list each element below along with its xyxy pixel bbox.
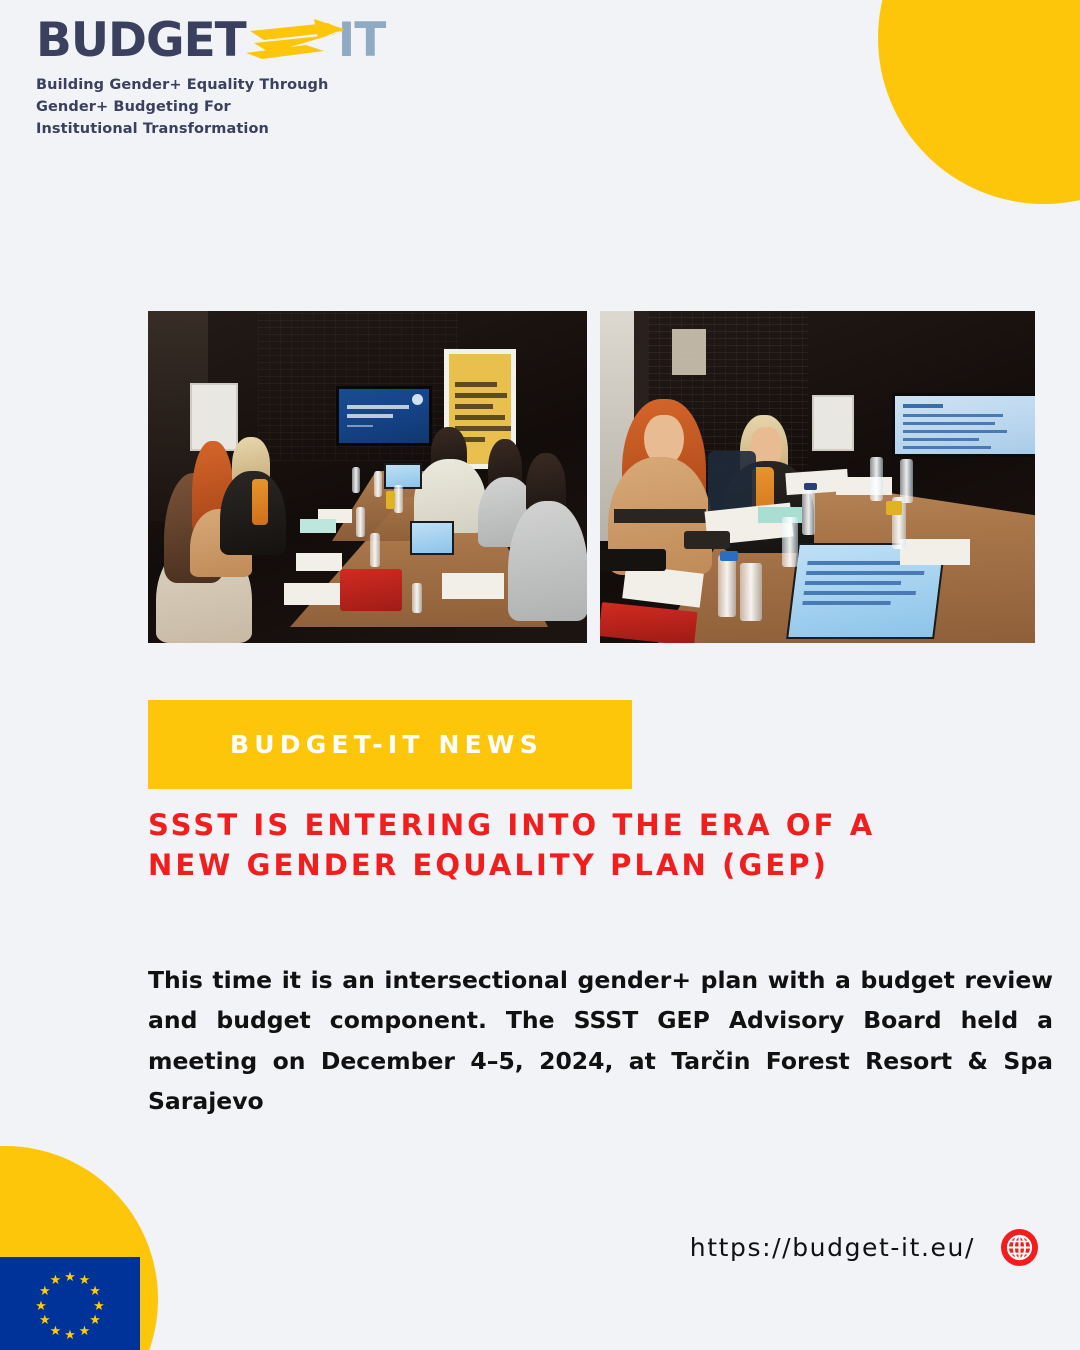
- logo-wordmark: BUDGET IT: [36, 14, 456, 66]
- logo-word-budget: BUDGET: [36, 17, 246, 64]
- brand-logo: BUDGET IT Building Gender+ Equality Thro…: [36, 14, 456, 140]
- eu-star: ★: [89, 1284, 102, 1297]
- eu-star: ★: [93, 1299, 106, 1312]
- eu-star-ring: ★★★★★★★★★★★★: [0, 1257, 140, 1350]
- eu-star: ★: [64, 1328, 77, 1341]
- photo-meeting-room-close: [600, 311, 1035, 643]
- photo-gallery: [148, 311, 1035, 643]
- eu-star: ★: [49, 1273, 62, 1286]
- photo-meeting-room-wide: [148, 311, 587, 643]
- brush-arrow-icon: [240, 17, 348, 63]
- european-union-flag: ★★★★★★★★★★★★: [0, 1257, 140, 1350]
- eu-star: ★: [78, 1324, 91, 1337]
- body-paragraph: This time it is an intersectional gender…: [148, 960, 1053, 1122]
- eu-star: ★: [35, 1299, 48, 1312]
- globe-icon[interactable]: [1001, 1229, 1038, 1266]
- website-url[interactable]: https://budget-it.eu/: [690, 1233, 975, 1262]
- news-poster: BUDGET IT Building Gender+ Equality Thro…: [0, 0, 1080, 1350]
- page-title: SSST IS ENTERING INTO THE ERA OF A NEW G…: [148, 805, 908, 885]
- logo-tagline: Building Gender+ Equality Through Gender…: [36, 74, 336, 140]
- decorative-circle-top-right: [878, 0, 1080, 204]
- website-footer[interactable]: https://budget-it.eu/: [690, 1229, 1038, 1266]
- news-banner: BUDGET-IT NEWS: [148, 700, 632, 789]
- news-banner-label: BUDGET-IT NEWS: [148, 730, 543, 759]
- eu-star: ★: [64, 1270, 77, 1283]
- eu-star: ★: [38, 1313, 51, 1326]
